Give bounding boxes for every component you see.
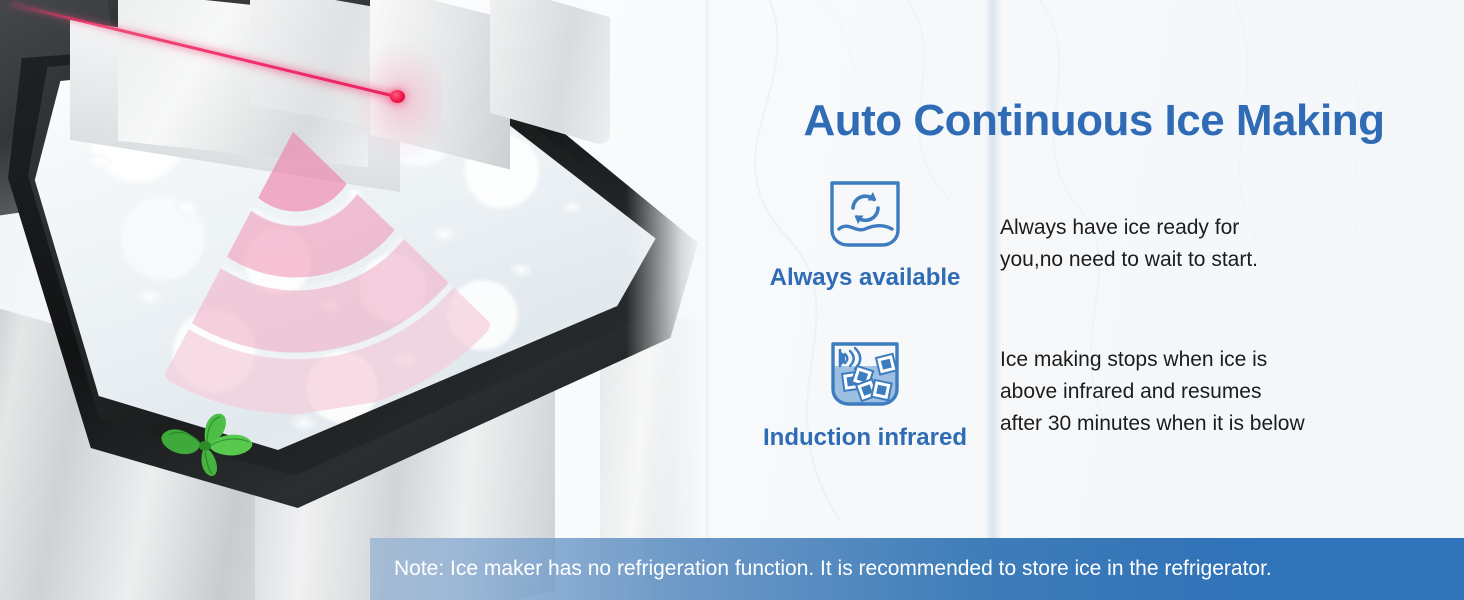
- induction-infrared-bin-icon: [826, 338, 904, 410]
- product-feature-banner: Auto Continuous Ice Making Always availa…: [0, 0, 1464, 600]
- feature-icon-column: Always available: [730, 178, 1000, 292]
- feature-description-line: you,no need to wait to start.: [1000, 244, 1258, 276]
- feature-description-line: Ice making stops when ice is: [1000, 344, 1305, 376]
- feature-description-line: above infrared and resumes: [1000, 376, 1305, 408]
- feature-label: Always available: [770, 264, 961, 292]
- feature-description: Ice making stops when ice is above infra…: [1000, 338, 1305, 440]
- feature-label: Induction infrared: [763, 424, 967, 452]
- page-title: Auto Continuous Ice Making: [738, 96, 1450, 146]
- laser-emitter-dot: [390, 90, 405, 103]
- feature-content: Auto Continuous Ice Making Always availa…: [706, 0, 1464, 600]
- feature-description-line: Always have ice ready for: [1000, 212, 1258, 244]
- infrared-sensor-arcs: [129, 96, 502, 444]
- feature-block-induction-infrared: Induction infrared Ice making stops when…: [730, 338, 1305, 452]
- feature-block-always-available: Always available Always have ice ready f…: [730, 178, 1258, 292]
- ice-maker-photo: [0, 0, 706, 600]
- note-bar: Note: Ice maker has no refrigeration fun…: [370, 538, 1464, 600]
- feature-icon-column: Induction infrared: [730, 338, 1000, 452]
- feature-description: Always have ice ready for you,no need to…: [1000, 178, 1258, 276]
- photo-edge-fade: [626, 0, 706, 600]
- mint-leaves: [155, 408, 265, 478]
- note-text: Note: Ice maker has no refrigeration fun…: [394, 557, 1272, 581]
- feature-description-line: after 30 minutes when it is below: [1000, 408, 1305, 440]
- continuous-refresh-bin-icon: [826, 178, 904, 250]
